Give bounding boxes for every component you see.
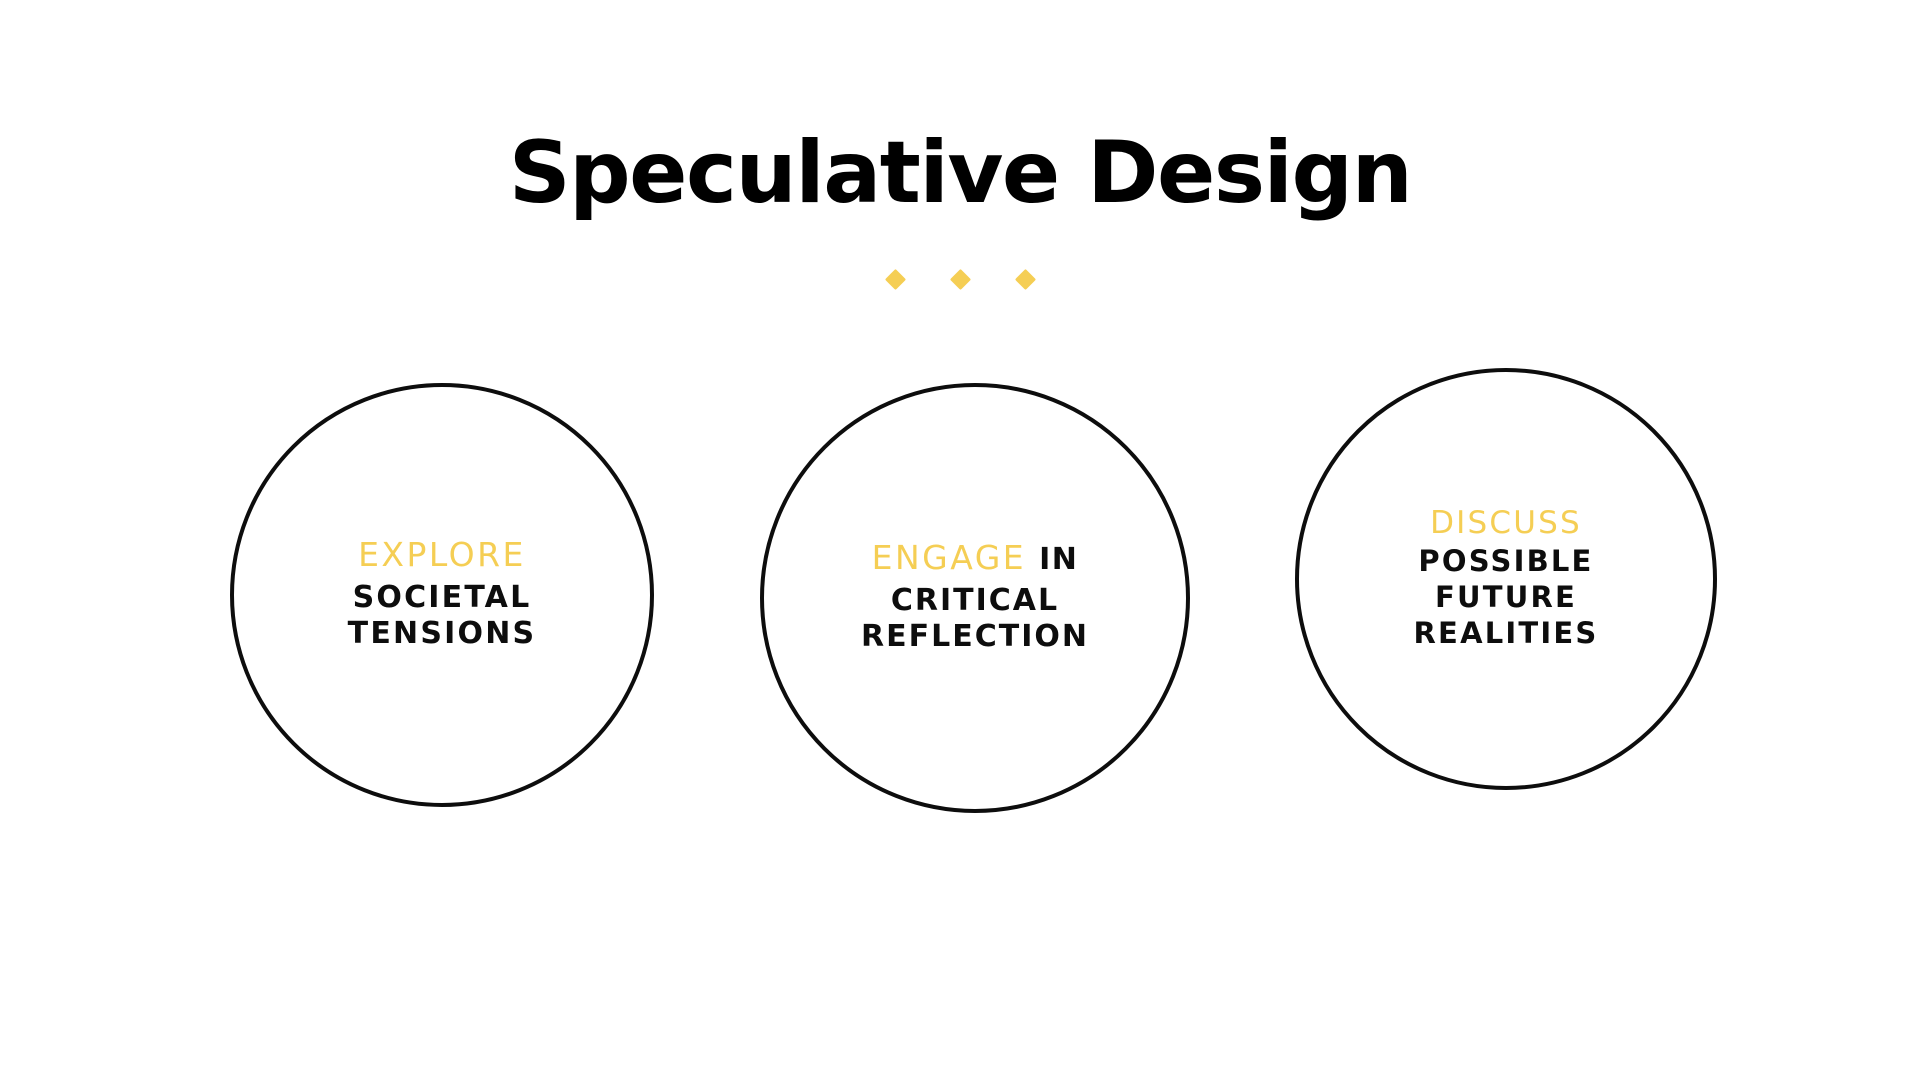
- circle-explore-text: EXPLORE SOCIETAL TENSIONS: [234, 537, 650, 653]
- circle-discuss-accent-word: DISCUSS: [1430, 505, 1582, 541]
- circle-explore-line-1: SOCIETAL: [260, 580, 624, 617]
- circle-engage-lead: ENGAGE IN: [790, 540, 1160, 577]
- circle-explore-accent-word: EXPLORE: [358, 535, 526, 574]
- slide-canvas: Speculative Design EXPLORE SOCIETAL TENS…: [0, 0, 1920, 1080]
- circle-engage-inline-rest: IN: [1039, 542, 1078, 577]
- circle-engage-text: ENGAGE IN CRITICAL REFLECTION: [764, 540, 1186, 656]
- circle-discuss[interactable]: DISCUSS POSSIBLE FUTURE REALITIES: [1295, 368, 1717, 790]
- circle-engage-line-1: CRITICAL: [790, 583, 1160, 620]
- circle-explore-lead: EXPLORE: [260, 537, 624, 574]
- circle-discuss-line-3: REALITIES: [1325, 616, 1687, 652]
- circle-discuss-line-1: POSSIBLE: [1325, 544, 1687, 580]
- circle-engage-line-2: REFLECTION: [790, 619, 1160, 656]
- circle-engage-accent-word: ENGAGE: [872, 538, 1027, 577]
- circle-discuss-lead: DISCUSS: [1325, 506, 1687, 541]
- circle-discuss-line-2: FUTURE: [1325, 580, 1687, 616]
- circle-explore-line-2: TENSIONS: [260, 616, 624, 653]
- circle-row: EXPLORE SOCIETAL TENSIONS ENGAGE IN CRIT…: [0, 0, 1920, 1080]
- circle-explore[interactable]: EXPLORE SOCIETAL TENSIONS: [230, 383, 654, 807]
- circle-discuss-text: DISCUSS POSSIBLE FUTURE REALITIES: [1299, 506, 1713, 653]
- circle-engage[interactable]: ENGAGE IN CRITICAL REFLECTION: [760, 383, 1190, 813]
